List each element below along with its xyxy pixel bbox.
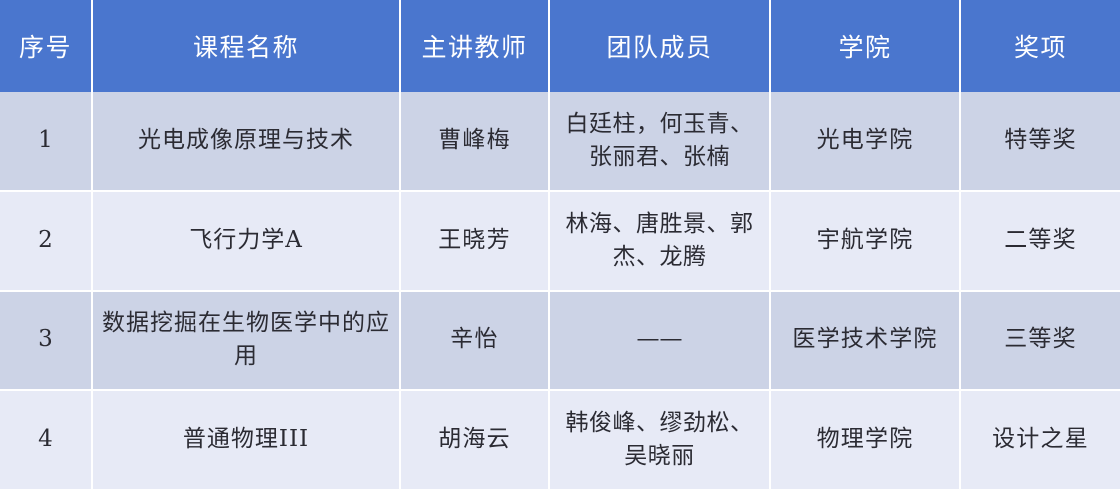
cell-index: 4 bbox=[0, 390, 92, 489]
cell-teacher: 王晓芳 bbox=[400, 191, 549, 290]
column-header-course: 课程名称 bbox=[92, 0, 400, 92]
cell-course: 光电成像原理与技术 bbox=[92, 92, 400, 191]
column-header-school: 学院 bbox=[770, 0, 960, 92]
column-header-award: 奖项 bbox=[960, 0, 1120, 92]
cell-teacher: 曹峰梅 bbox=[400, 92, 549, 191]
cell-school: 宇航学院 bbox=[770, 191, 960, 290]
cell-school: 光电学院 bbox=[770, 92, 960, 191]
cell-award: 设计之星 bbox=[960, 390, 1120, 489]
cell-team: 林海、唐胜景、郭杰、龙腾 bbox=[549, 191, 770, 290]
column-header-teacher: 主讲教师 bbox=[400, 0, 549, 92]
cell-school: 医学技术学院 bbox=[770, 291, 960, 390]
cell-award: 三等奖 bbox=[960, 291, 1120, 390]
table-header: 序号 课程名称 主讲教师 团队成员 学院 奖项 bbox=[0, 0, 1120, 92]
table-row: 1 光电成像原理与技术 曹峰梅 白廷柱，何玉青、张丽君、张楠 光电学院 特等奖 bbox=[0, 92, 1120, 191]
cell-index: 3 bbox=[0, 291, 92, 390]
cell-course: 飞行力学A bbox=[92, 191, 400, 290]
cell-school: 物理学院 bbox=[770, 390, 960, 489]
column-header-index: 序号 bbox=[0, 0, 92, 92]
table-body: 1 光电成像原理与技术 曹峰梅 白廷柱，何玉青、张丽君、张楠 光电学院 特等奖 … bbox=[0, 92, 1120, 489]
cell-index: 1 bbox=[0, 92, 92, 191]
course-award-table: 序号 课程名称 主讲教师 团队成员 学院 奖项 1 光电成像原理与技术 曹峰梅 … bbox=[0, 0, 1120, 489]
cell-team: 白廷柱，何玉青、张丽君、张楠 bbox=[549, 92, 770, 191]
table-row: 3 数据挖掘在生物医学中的应用 辛怡 —— 医学技术学院 三等奖 bbox=[0, 291, 1120, 390]
column-header-team: 团队成员 bbox=[549, 0, 770, 92]
cell-award: 特等奖 bbox=[960, 92, 1120, 191]
cell-index: 2 bbox=[0, 191, 92, 290]
table-row: 2 飞行力学A 王晓芳 林海、唐胜景、郭杰、龙腾 宇航学院 二等奖 bbox=[0, 191, 1120, 290]
cell-team: —— bbox=[549, 291, 770, 390]
cell-course: 数据挖掘在生物医学中的应用 bbox=[92, 291, 400, 390]
cell-teacher: 辛怡 bbox=[400, 291, 549, 390]
cell-award: 二等奖 bbox=[960, 191, 1120, 290]
table-row: 4 普通物理III 胡海云 韩俊峰、缪劲松、吴晓丽 物理学院 设计之星 bbox=[0, 390, 1120, 489]
cell-course: 普通物理III bbox=[92, 390, 400, 489]
cell-teacher: 胡海云 bbox=[400, 390, 549, 489]
header-row: 序号 课程名称 主讲教师 团队成员 学院 奖项 bbox=[0, 0, 1120, 92]
cell-team: 韩俊峰、缪劲松、吴晓丽 bbox=[549, 390, 770, 489]
